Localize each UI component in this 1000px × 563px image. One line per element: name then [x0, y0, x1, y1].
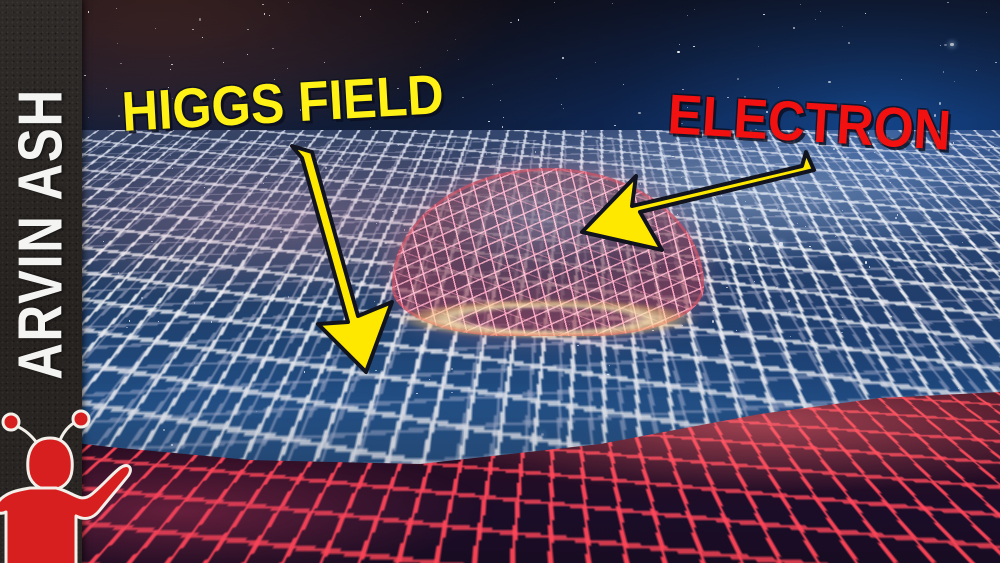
red-alien-mascot	[0, 408, 136, 563]
brand-name: ARVIN ASH	[6, 56, 77, 412]
electron-dome	[392, 168, 704, 336]
brand-name-text: ARVIN ASH	[6, 88, 77, 380]
thumbnail-stage: HIGGS FIELD ELECTRON ARVIN ASH	[0, 0, 1000, 563]
electron-dome-glow-rim	[384, 296, 712, 342]
